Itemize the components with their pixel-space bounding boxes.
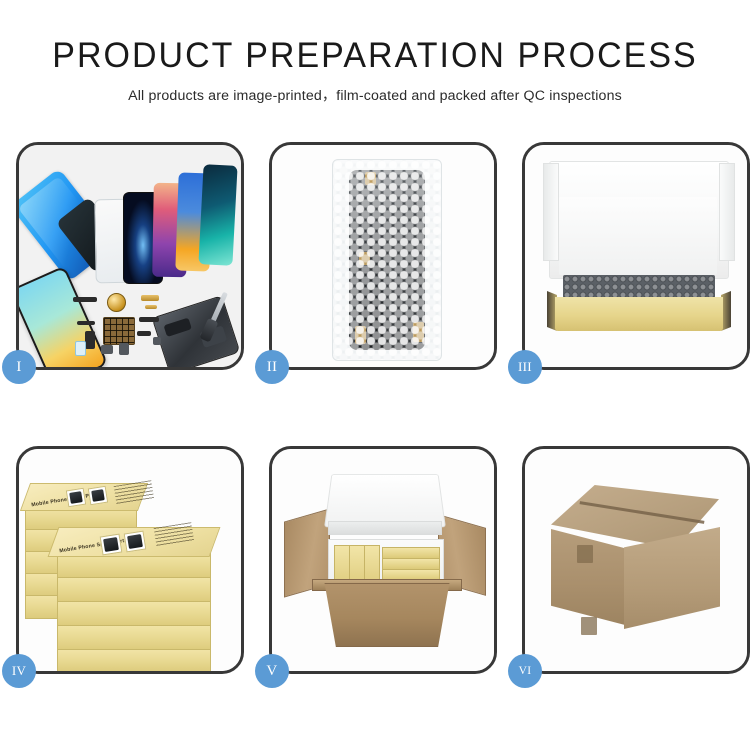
step-2-image	[272, 145, 494, 367]
page-header: PRODUCT PREPARATION PROCESS All products…	[0, 0, 750, 105]
page-subtitle: All products are image-printed，film-coat…	[0, 85, 750, 105]
label-phone-image-icon	[69, 491, 83, 504]
box-front-panel-icon	[555, 297, 723, 331]
carton-with-foam-icon	[272, 449, 494, 671]
process-step-grid: I II	[16, 142, 734, 674]
step-badge-1: I	[2, 350, 36, 384]
label-phone-image-icon	[127, 534, 143, 549]
bubble-texture-icon	[333, 160, 441, 360]
label-window-icon	[66, 488, 86, 508]
phone-parts-collage-icon	[19, 145, 241, 367]
flex-cable-icon	[85, 331, 95, 349]
teal-gradient-phone-icon	[198, 164, 237, 266]
lid-flap-left-icon	[543, 163, 559, 261]
process-step-panel-3[interactable]: III	[522, 142, 750, 370]
foam-sheet-icon	[559, 197, 717, 275]
process-step-panel-1[interactable]: I	[16, 142, 244, 370]
carton-body-icon	[316, 583, 458, 647]
label-window-icon	[124, 531, 147, 553]
step-badge-2: II	[255, 350, 289, 384]
step-5-image	[272, 449, 494, 671]
step-3-image	[525, 145, 747, 367]
front-facing-phone-icon	[19, 265, 108, 367]
process-step-panel-4[interactable]: Mobile Phone Spare Parts Mobile Phone Sp…	[16, 446, 244, 674]
flex-cable-icon	[73, 297, 97, 302]
carton-tab-icon	[581, 617, 597, 635]
sealed-carton-icon	[525, 449, 747, 671]
step-badge-5: V	[255, 654, 289, 688]
step-badge-6: VI	[508, 654, 542, 688]
label-window-icon	[88, 486, 108, 506]
step-4-image: Mobile Phone Spare Parts Mobile Phone Sp…	[19, 449, 241, 671]
carton-left-face-icon	[551, 529, 625, 625]
process-step-panel-5[interactable]: V	[269, 446, 497, 674]
vibration-motor-icon	[107, 293, 126, 312]
label-window-icon	[100, 534, 123, 556]
flex-cable-icon	[137, 331, 151, 336]
stacked-box-layer	[57, 625, 211, 651]
flex-cable-icon	[77, 321, 95, 325]
small-part-icon	[153, 337, 161, 345]
stacked-box-layer	[57, 601, 211, 627]
gold-connector-icon	[145, 305, 157, 309]
foam-lid-edge-icon	[328, 521, 442, 535]
carton-right-face-icon	[624, 527, 720, 629]
step-badge-4: IV	[2, 654, 36, 688]
stacked-box-layer	[57, 649, 211, 671]
sim-tray-icon	[75, 341, 86, 356]
label-phone-image-icon	[91, 489, 105, 502]
stacked-boxes-icon: Mobile Phone Spare Parts Mobile Phone Sp…	[19, 449, 241, 671]
page-title: PRODUCT PREPARATION PROCESS	[11, 38, 739, 75]
process-step-panel-6[interactable]: VI	[522, 446, 750, 674]
process-step-panel-2[interactable]: II	[269, 142, 497, 370]
foam-lid-icon	[324, 474, 446, 527]
lid-flap-right-icon	[719, 163, 735, 261]
step-6-image	[525, 449, 747, 671]
chip-array-icon	[103, 317, 135, 345]
stacked-box-layer	[57, 577, 211, 603]
carton-tab-icon	[577, 545, 593, 563]
open-yellow-box-icon	[525, 145, 747, 367]
step-badge-3: III	[508, 350, 542, 384]
label-spec-lines-icon	[114, 480, 155, 506]
flex-cable-icon	[139, 317, 159, 322]
label-phone-image-icon	[103, 537, 119, 552]
phone-rear-housing-icon	[152, 295, 241, 367]
speaker-module-icon	[101, 345, 113, 354]
bubble-wrap-package-icon	[332, 159, 442, 361]
gold-connector-icon	[141, 295, 159, 301]
step-1-image	[19, 145, 241, 367]
camera-module-icon	[119, 343, 129, 355]
